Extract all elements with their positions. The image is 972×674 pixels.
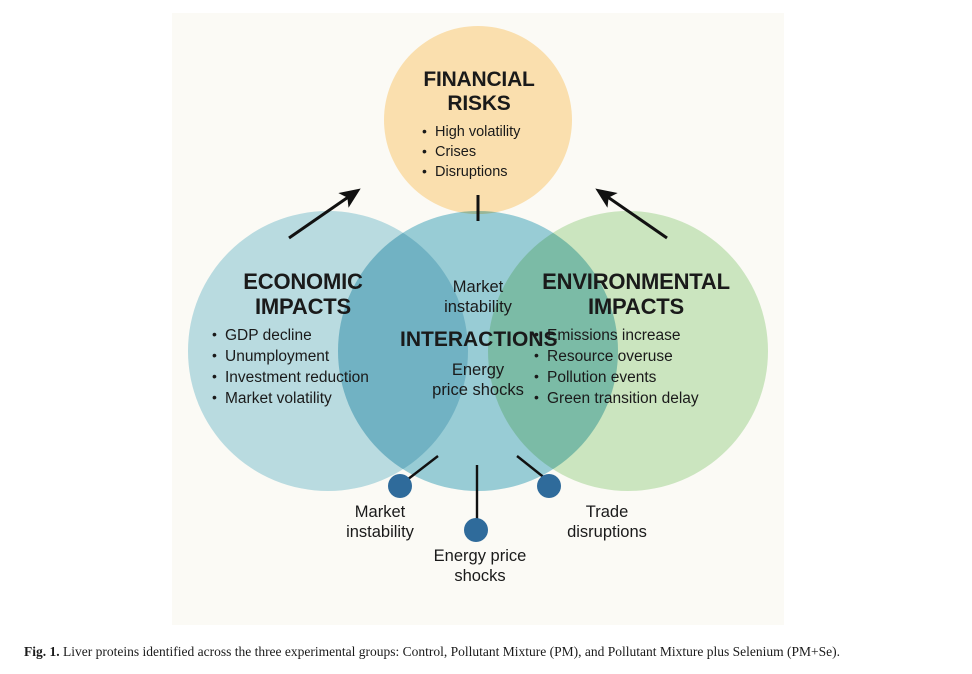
set-interactions: Market instability INTERACTIONS Energy p… xyxy=(400,277,556,400)
node-label-market-instability: Market instability xyxy=(318,502,442,542)
list-item: Pollution events xyxy=(534,367,748,388)
figure-caption-label: Fig. 1. xyxy=(24,644,60,659)
set-economic-impacts: ECONOMIC IMPACTS GDP decline Unumploymen… xyxy=(198,269,408,409)
set-economic-impacts-list: GDP decline Unumployment Investment redu… xyxy=(212,325,408,409)
list-item: GDP decline xyxy=(212,325,408,346)
node-dot-market-instability xyxy=(388,474,412,498)
list-item: Crises xyxy=(422,142,558,162)
list-item: High volatility xyxy=(422,122,558,142)
list-item: Disruptions xyxy=(422,162,558,182)
node-dot-trade-disruptions xyxy=(537,474,561,498)
list-item: Investment reduction xyxy=(212,367,408,388)
set-environmental-impacts-list: Emissions increase Resource overuse Poll… xyxy=(534,325,748,409)
node-dot-energy-price-shocks xyxy=(464,518,488,542)
list-item: Resource overuse xyxy=(534,346,748,367)
set-financial-risks-list: High volatility Crises Disruptions xyxy=(422,122,558,182)
interactions-title: INTERACTIONS xyxy=(400,327,556,352)
list-item: Unumployment xyxy=(212,346,408,367)
list-item: Green transition delay xyxy=(534,388,748,409)
set-environmental-impacts: ENVIRONMENTAL IMPACTS Emissions increase… xyxy=(524,269,748,409)
venn-diagram: FINANCIAL RISKS High volatility Crises D… xyxy=(172,13,784,625)
set-economic-impacts-heading: ECONOMIC IMPACTS xyxy=(198,269,408,319)
figure-panel: FINANCIAL RISKS High volatility Crises D… xyxy=(172,13,784,625)
list-item: Market volatility xyxy=(212,388,408,409)
node-label-trade-disruptions: Trade disruptions xyxy=(544,502,670,542)
node-label-energy-price-shocks: Energy price shocks xyxy=(410,546,550,586)
list-item: Emissions increase xyxy=(534,325,748,346)
interactions-top-label: Market instability xyxy=(400,277,556,317)
set-financial-risks-heading: FINANCIAL RISKS xyxy=(400,68,558,116)
set-financial-risks: FINANCIAL RISKS High volatility Crises D… xyxy=(400,68,558,182)
set-environmental-impacts-heading: ENVIRONMENTAL IMPACTS xyxy=(524,269,748,319)
figure-caption: Fig. 1. Liver proteins identified across… xyxy=(24,643,954,660)
interactions-bottom-label: Energy price shocks xyxy=(400,360,556,400)
figure-caption-text: Liver proteins identified across the thr… xyxy=(63,644,840,659)
